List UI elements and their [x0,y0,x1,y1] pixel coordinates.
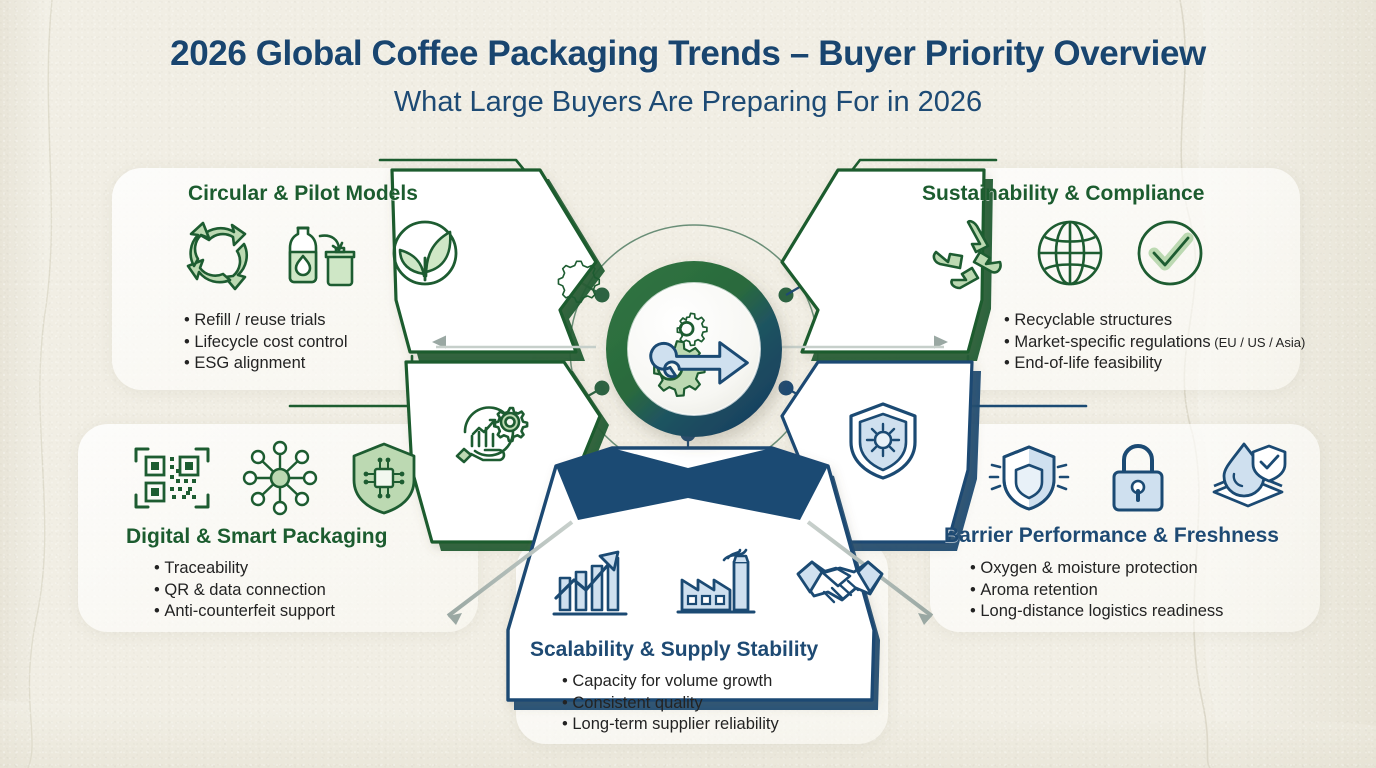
leaf-sprout-circle-icon [386,218,464,288]
globe-grid-icon [1034,218,1106,288]
icons-row-sustainability [930,218,1206,288]
recycle-triangle-icon [930,218,1006,288]
bullet-dot: • [184,333,194,351]
quadrant-title-sustainability: Sustainability & Compliance [922,182,1204,206]
quadrant-title-scalability: Scalability & Supply Stability [530,638,818,662]
bullet-text: Anti-counterfeit support [164,602,335,620]
bullet-text: QR & data connection [164,581,325,599]
icons-row-scalability [552,548,886,618]
bullet-text: Traceability [164,559,248,577]
shield-shine-icon [988,441,1070,513]
bullet-text: Consistent quality [572,694,702,712]
water-drop-layers-icon [1206,440,1290,514]
bullet-dot: • [562,672,572,690]
bullet-dot: • [154,602,164,620]
bullet-text: Oxygen & moisture protection [980,559,1197,577]
bullets-scalability: • Capacity for volume growth • Consisten… [562,671,779,736]
icons-row-circular [182,218,464,288]
bullet-note: (EU / US / Asia) [1214,335,1305,350]
check-circle-icon [1134,218,1206,288]
bullet-text: Aroma retention [980,581,1097,599]
bullet-dot: • [154,581,164,599]
recycle-loop-arrows-icon [182,218,260,288]
bullet-dot: • [184,354,194,372]
quadrant-title-circular: Circular & Pilot Models [188,182,418,206]
bullet-text: End-of-life feasibility [1014,354,1162,372]
qr-code-scan-icon [132,441,212,515]
bullet-text: Lifecycle cost control [194,333,347,351]
shield-chip-icon [348,440,420,516]
bullet-dot: • [1004,311,1014,329]
shield-lightbulb-icon [843,400,923,482]
bullet-dot: • [970,581,980,599]
bullet-text: Long-distance logistics readiness [980,602,1223,620]
quadrant-title-digital: Digital & Smart Packaging [126,525,387,549]
bullets-digital: • Traceability • QR & data connection • … [154,558,335,623]
icons-row-barrier [988,440,1290,514]
quadrant-title-barrier: Barrier Performance & Freshness [944,524,1279,548]
network-nodes-icon [242,441,318,515]
bullet-text: ESG alignment [194,354,305,372]
bullets-sustainability: • Recyclable structures • Market-specifi… [1004,310,1305,375]
bullet-text: Capacity for volume growth [572,672,772,690]
bullet-dot: • [1004,333,1014,351]
handshake-icon [794,548,886,618]
factory-icon [676,548,758,618]
bottle-to-bin-refill-icon [284,218,362,288]
icons-row-digital [132,440,420,516]
bullet-text: Long-term supplier reliability [572,715,778,733]
padlock-icon [1102,440,1174,514]
bullet-dot: • [1004,354,1014,372]
bullet-dot: • [562,694,572,712]
hand-growth-gear-icon [455,398,531,474]
bullet-text: Recyclable structures [1014,311,1172,329]
bullet-text: Market-specific regulations [1014,333,1210,351]
bullet-text: Refill / reuse trials [194,311,325,329]
bullet-dot: • [154,559,164,577]
bullets-circular: • Refill / reuse trials • Lifecycle cost… [184,310,348,375]
bullets-barrier: • Oxygen & moisture protection • Aroma r… [970,558,1223,623]
bullet-dot: • [184,311,194,329]
bullet-dot: • [970,602,980,620]
growth-chart-arrow-icon [552,548,640,618]
infographic-canvas: 2026 Global Coffee Packaging Trends – Bu… [0,0,1376,768]
bullet-dot: • [562,715,572,733]
bullet-dot: • [970,559,980,577]
